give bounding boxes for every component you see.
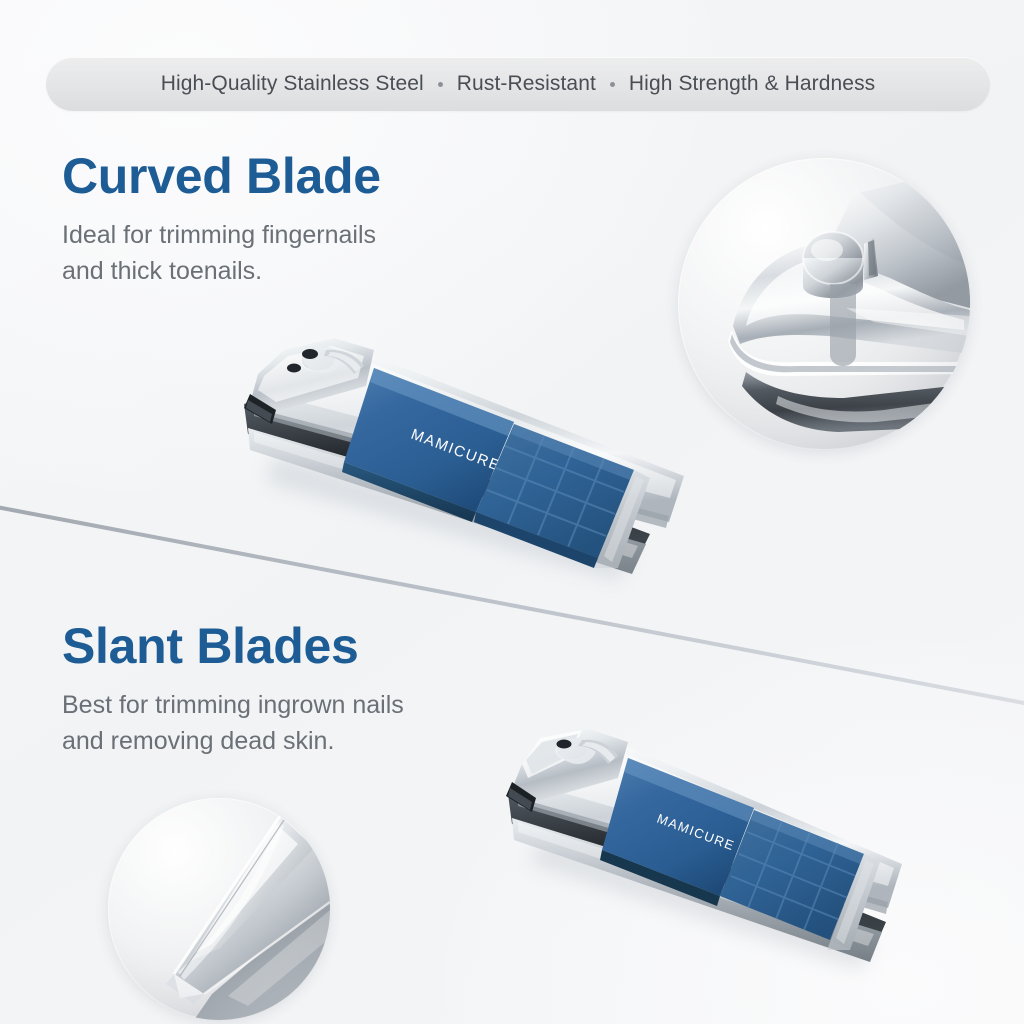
slant-blade-closeup-icon	[108, 798, 330, 1020]
page-title-curved-blade: Curved Blade	[62, 150, 381, 202]
slant-blades-description-line-2: and removing dead skin.	[62, 724, 404, 760]
feature-claims-list: High-Quality Stainless Steel Rust-Resist…	[161, 72, 876, 96]
page-title-slant-blades: Slant Blades	[62, 620, 404, 672]
bullet-dot-icon	[610, 82, 615, 87]
curved-blade-description-line-2: and thick toenails.	[62, 254, 381, 290]
nail-clipper-slant-product-image: MAMICURE	[482, 712, 922, 997]
feature-claims-banner: High-Quality Stainless Steel Rust-Resist…	[46, 57, 990, 111]
curved-blade-text-block: Curved Blade Ideal for trimming fingerna…	[62, 150, 381, 289]
slant-blade-closeup-inset	[108, 798, 330, 1020]
curved-blade-closeup-icon	[678, 158, 970, 450]
curved-blade-closeup-inset	[678, 158, 970, 450]
nail-clipper-curved-product-image: MAMICURE	[214, 316, 714, 606]
slant-blades-description-line-1: Best for trimming ingrown nails	[62, 688, 404, 724]
bullet-dot-icon	[438, 82, 443, 87]
curved-blade-description-line-1: Ideal for trimming fingernails	[62, 218, 381, 254]
claim-rust-resistant: Rust-Resistant	[457, 72, 596, 96]
nail-clipper-curved-icon: MAMICURE	[214, 316, 714, 606]
claim-stainless-steel: High-Quality Stainless Steel	[161, 72, 424, 96]
claim-strength-hardness: High Strength & Hardness	[629, 72, 875, 96]
product-infographic-page: High-Quality Stainless Steel Rust-Resist…	[0, 0, 1024, 1024]
nail-clipper-slant-icon: MAMICURE	[482, 712, 922, 997]
slant-blades-text-block: Slant Blades Best for trimming ingrown n…	[62, 620, 404, 759]
